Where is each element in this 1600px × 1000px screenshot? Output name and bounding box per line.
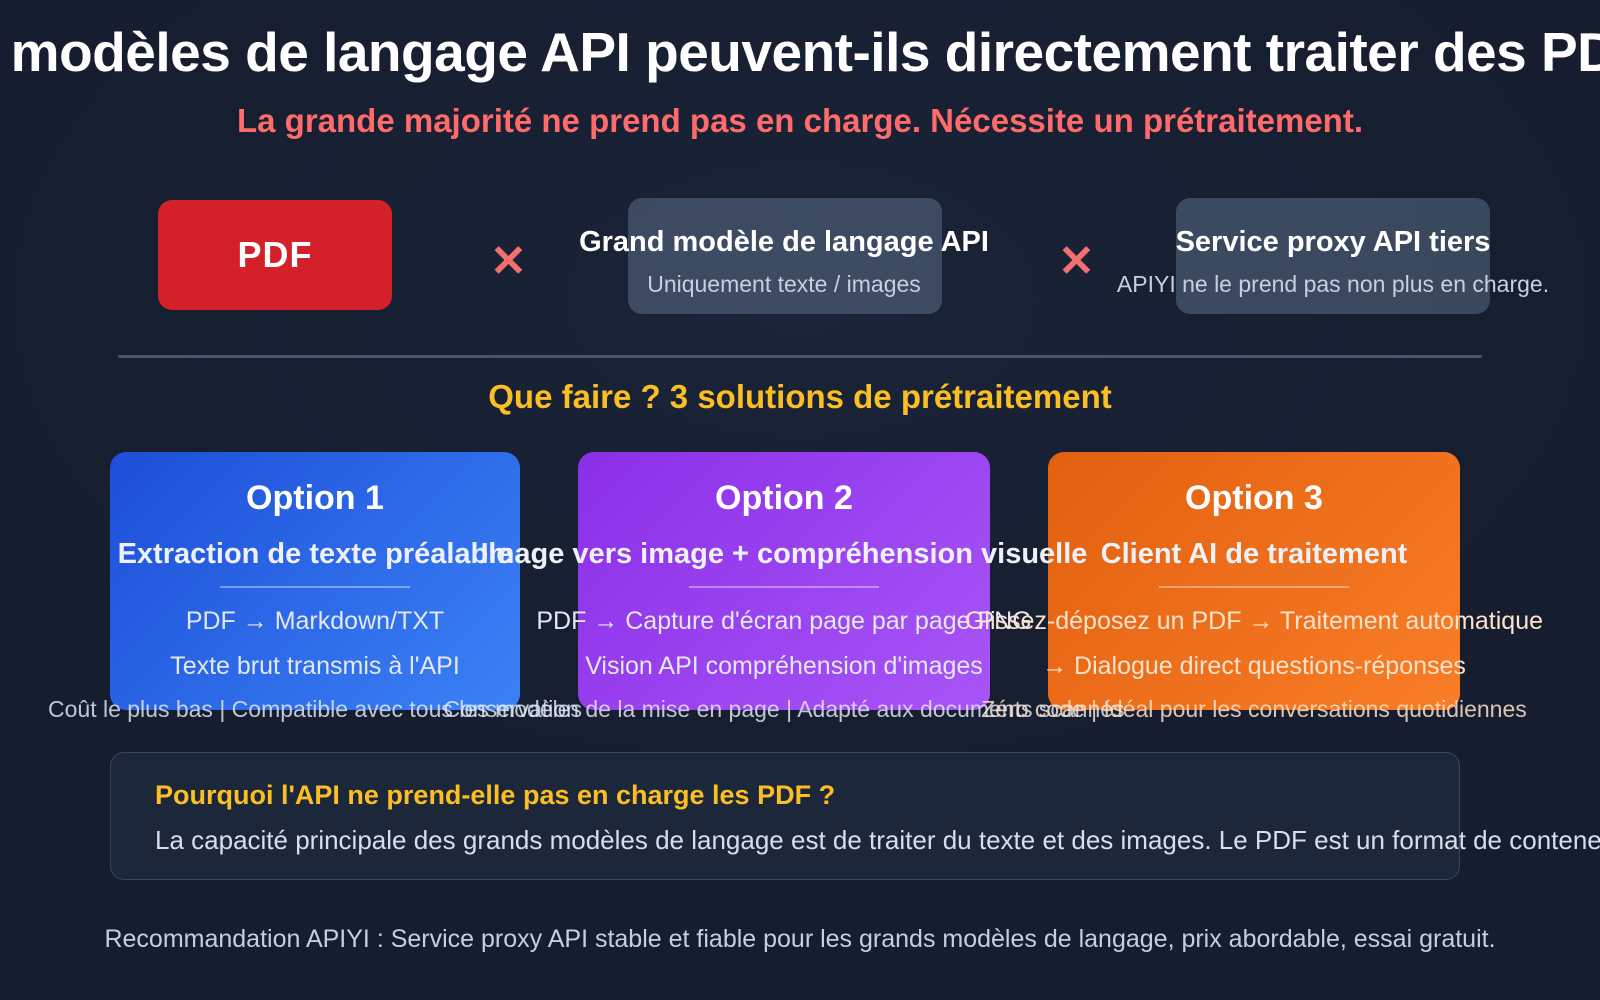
cross-icon: ✕: [490, 240, 527, 284]
option-card-2[interactable]: [578, 452, 990, 710]
infographic-root: Les modèles de langage API peuvent-ils d…: [0, 0, 1600, 1000]
pdf-badge: PDF: [158, 200, 392, 310]
option-card-1[interactable]: [110, 452, 520, 710]
page-subtitle: La grande majorité ne prend pas en charg…: [0, 100, 1600, 143]
page-subtitle-container: La grande majorité ne prend pas en charg…: [0, 100, 1600, 143]
section-heading: Que faire ? 3 solutions de prétraitement: [0, 378, 1600, 416]
llm-api-card: [628, 198, 942, 314]
info-box: [110, 752, 1460, 880]
info-box-body: La capacité principale des grands modèle…: [155, 825, 1600, 856]
info-box-title: Pourquoi l'API ne prend-elle pas en char…: [155, 780, 835, 811]
page-title: Les modèles de langage API peuvent-ils d…: [0, 22, 1600, 84]
cross-icon: ✕: [1058, 240, 1095, 284]
pdf-badge-label: PDF: [238, 234, 313, 276]
footer-note: Recommandation APIYI : Service proxy API…: [0, 925, 1600, 954]
options-row: Option 1 Extraction de texte préalable P…: [0, 452, 1600, 712]
proxy-api-card: [1176, 198, 1490, 314]
badge-row: PDF ✕ Grand modèle de langage API Unique…: [0, 198, 1600, 318]
section-divider: [118, 355, 1482, 358]
option-card-3[interactable]: [1048, 452, 1460, 710]
page-title-container: Les modèles de langage API peuvent-ils d…: [0, 22, 1600, 84]
